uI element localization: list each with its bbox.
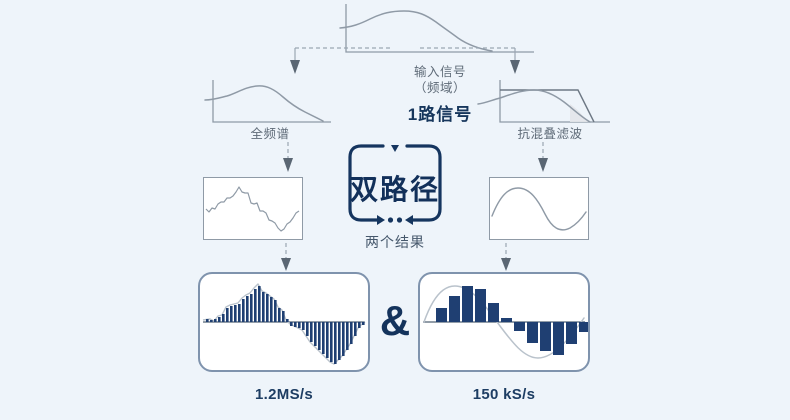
low-rate-sampled-panel: [418, 272, 590, 372]
high-rate-sampled-panel: [198, 272, 370, 372]
low-rate-bars: [436, 286, 588, 355]
high-rate-label: 1.2MS/s: [214, 386, 354, 403]
full-spectrum-label: 全频谱: [200, 126, 340, 142]
arrow-to-low-rate-panel: [498, 243, 514, 273]
low-rate-bar-chart: [420, 274, 588, 370]
signal-splitter-connector: [280, 32, 530, 82]
noisy-waveform-box: [203, 177, 303, 240]
arrow-to-left-waveform: [280, 142, 296, 174]
dual-path-label: 双路径: [345, 168, 445, 208]
low-rate-label: 150 kS/s: [434, 386, 574, 403]
sine-waveform-box: [489, 177, 589, 240]
arrow-to-right-waveform: [535, 142, 551, 174]
ampersand-separator: &: [373, 300, 417, 342]
anti-alias-filter-graph: [478, 78, 618, 130]
diagram-canvas: 输入信号 （频域） 1路信号 全频谱: [0, 0, 790, 420]
high-rate-bar-chart: [200, 274, 368, 370]
arrow-to-high-rate-panel: [278, 243, 294, 273]
two-results-label: 两个结果: [335, 232, 455, 252]
full-spectrum-graph: [205, 78, 335, 130]
high-rate-bars: [206, 286, 365, 364]
anti-alias-filter-label: 抗混叠滤波: [470, 126, 630, 142]
